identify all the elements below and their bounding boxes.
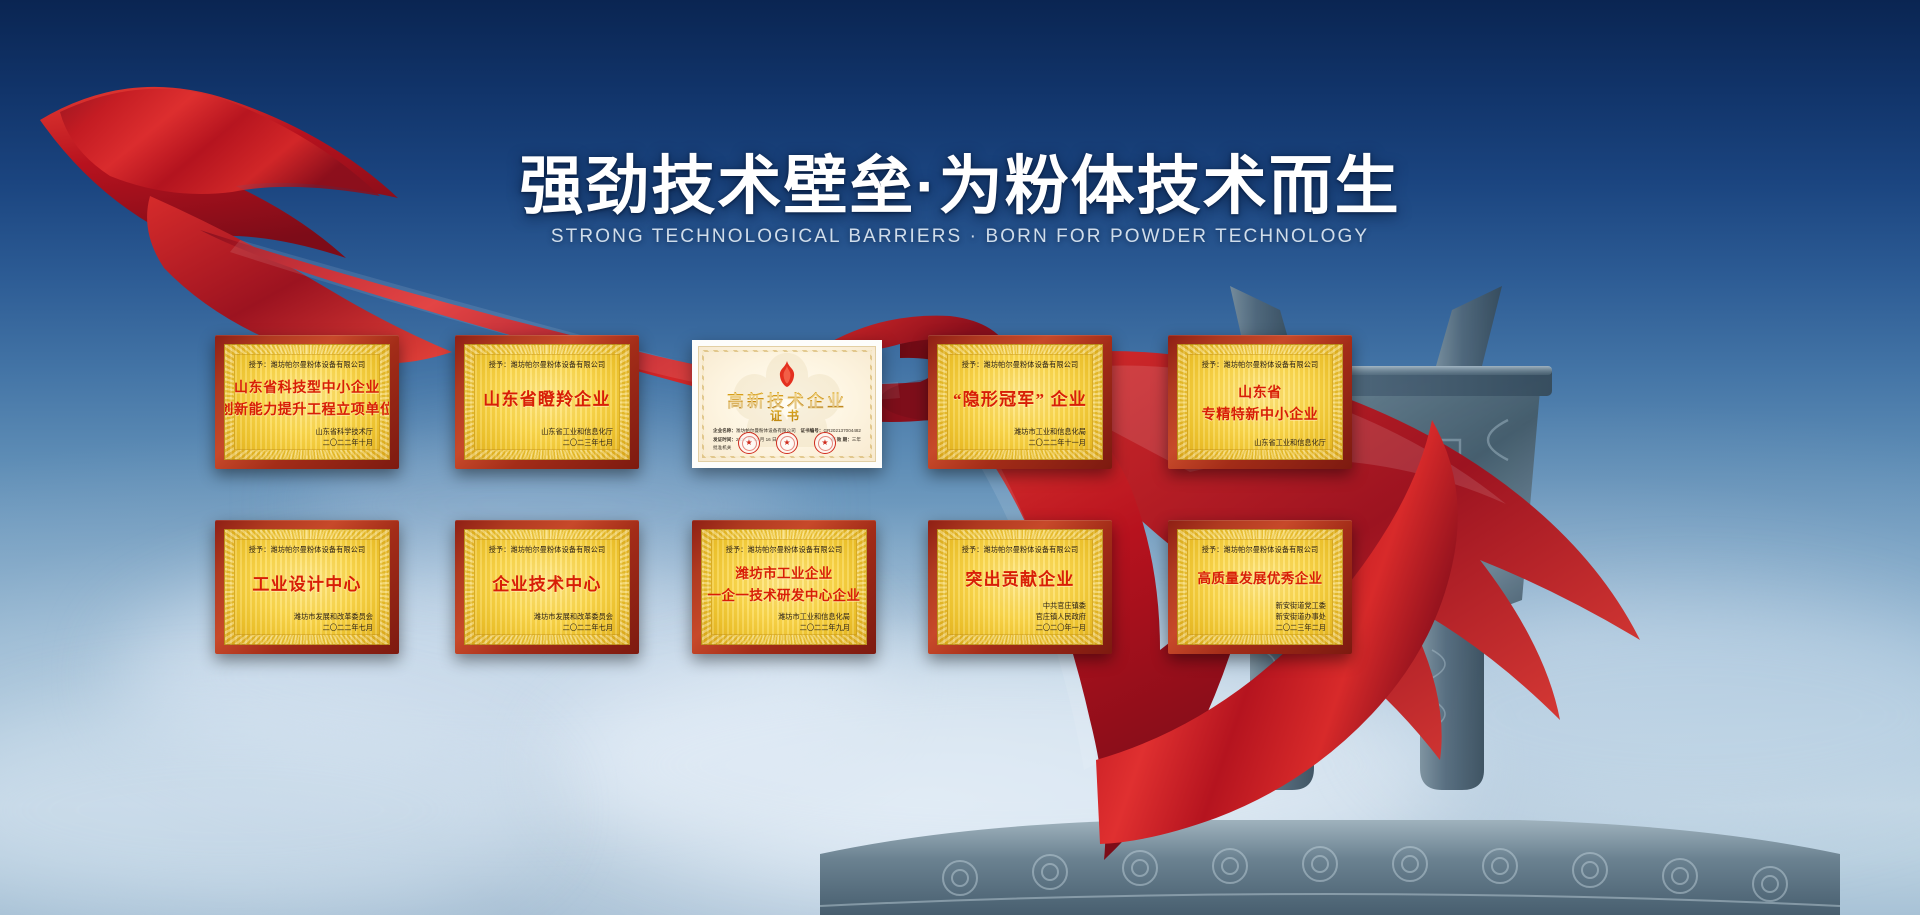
plaque-issue-date: 二〇二二年七月 xyxy=(225,622,373,633)
certificate-card[interactable]: 授予：潍坊帕尔曼粉体设备有限公司 山东省科技型中小企业 创新能力提升工程立项单位… xyxy=(215,335,399,469)
plaque-title: 高质量发展优秀企业 xyxy=(1178,555,1342,600)
plaque-title-line: 企业技术中心 xyxy=(492,570,601,595)
plaque-issuer: 山东省工业和信息化厅 二〇二三年七月 xyxy=(465,426,629,448)
certificate-card[interactable]: 授予：潍坊帕尔曼粉体设备有限公司 潍坊市工业企业 一企一技术研发中心企业 潍坊市… xyxy=(692,520,876,654)
plaque-grant-line: 授予：潍坊帕尔曼粉体设备有限公司 xyxy=(705,544,862,555)
plaque-title: “隐形冠军” 企业 xyxy=(938,370,1102,426)
plaque-issuer-name: 潍坊市工业和信息化局 xyxy=(938,426,1086,437)
plaque-grant-line: 授予：潍坊帕尔曼粉体设备有限公司 xyxy=(468,544,625,555)
plaque-issue-date: 二〇二二年十一月 xyxy=(938,437,1086,448)
plaque-issue-date: 二〇二三年二月 xyxy=(1178,622,1326,633)
certificate-card[interactable]: 授予：潍坊帕尔曼粉体设备有限公司 高质量发展优秀企业 新安街道党工委 新安街道办… xyxy=(1168,520,1352,654)
plaque-issuer: 潍坊市发展和改革委员会 二〇二二年七月 xyxy=(225,611,389,633)
plaque-issuer: 潍坊市发展和改革委员会 二〇二二年七月 xyxy=(465,611,629,633)
plaque-issuer: 中共官庄镇委 官庄镇人民政府 二〇二〇年一月 xyxy=(938,600,1102,633)
plaque-title-line: “隐形冠军” 企业 xyxy=(953,385,1087,410)
plaque-title-line: 突出贡献企业 xyxy=(965,565,1074,590)
plaque-title-line: 创新能力提升工程立项单位 xyxy=(224,399,390,419)
page-title: 强劲技术壁垒·为粉体技术而生 xyxy=(0,135,1920,227)
certificate-card[interactable]: 授予：潍坊帕尔曼粉体设备有限公司 工业设计中心 潍坊市发展和改革委员会 二〇二二… xyxy=(215,520,399,654)
plaque-grant-line: 授予：潍坊帕尔曼粉体设备有限公司 xyxy=(1181,359,1338,370)
plaque-issue-date: 二〇二二年九月 xyxy=(702,622,850,633)
plaque-title-line: 潍坊市工业企业 xyxy=(735,562,832,582)
plaque-grant-line: 授予：潍坊帕尔曼粉体设备有限公司 xyxy=(941,359,1098,370)
plaque-grant-line: 授予：潍坊帕尔曼粉体设备有限公司 xyxy=(1181,544,1338,555)
plaque-issuer-name: 潍坊市发展和改革委员会 xyxy=(465,611,613,622)
plaque-issuer: 山东省科学技术厅 二〇二二年十月 xyxy=(225,426,389,448)
plaque-title-line: 山东省瞪羚企业 xyxy=(483,385,610,410)
plaque-title: 山东省瞪羚企业 xyxy=(465,370,629,426)
plaque-face: 授予：潍坊帕尔曼粉体设备有限公司 企业技术中心 潍坊市发展和改革委员会 二〇二二… xyxy=(464,529,630,645)
certificate-card[interactable]: 授予：潍坊帕尔曼粉体设备有限公司 山东省瞪羚企业 山东省工业和信息化厅 二〇二三… xyxy=(455,335,639,469)
flame-logo-icon xyxy=(776,361,798,387)
plaque-face: 授予：潍坊帕尔曼粉体设备有限公司 工业设计中心 潍坊市发展和改革委员会 二〇二二… xyxy=(224,529,390,645)
plaque-title: 山东省科技型中小企业 创新能力提升工程立项单位 xyxy=(225,370,389,426)
plaque-issuer-name: 潍坊市工业和信息化局 xyxy=(702,611,850,622)
certificate-row-1: 授予：潍坊帕尔曼粉体设备有限公司 山东省科技型中小企业 创新能力提升工程立项单位… xyxy=(215,335,1615,495)
plaque-grant-line: 授予：潍坊帕尔曼粉体设备有限公司 xyxy=(228,359,385,370)
certificate-subtitle: 证书 xyxy=(699,407,875,424)
plaque-grant-line: 授予：潍坊帕尔曼粉体设备有限公司 xyxy=(228,544,385,555)
certificate-card[interactable]: 高新技术企业 证书 企业名称：潍坊帕尔曼粉体设备有限公司 证书编号：GR2021… xyxy=(692,340,882,468)
plaque-issuer: 潍坊市工业和信息化局 二〇二二年九月 xyxy=(702,611,866,633)
certificate-card[interactable]: 授予：潍坊帕尔曼粉体设备有限公司 企业技术中心 潍坊市发展和改革委员会 二〇二二… xyxy=(455,520,639,654)
plaque-face: 授予：潍坊帕尔曼粉体设备有限公司 山东省瞪羚企业 山东省工业和信息化厅 二〇二三… xyxy=(464,344,630,460)
plaque-title: 企业技术中心 xyxy=(465,555,629,611)
plaque-title: 突出贡献企业 xyxy=(938,555,1102,600)
statue-plinth xyxy=(820,820,1840,915)
certificate-card[interactable]: 授予：潍坊帕尔曼粉体设备有限公司 山东省 专精特新中小企业 山东省工业和信息化厅 xyxy=(1168,335,1352,469)
certificate-card[interactable]: 授予：潍坊帕尔曼粉体设备有限公司 突出贡献企业 中共官庄镇委 官庄镇人民政府 二… xyxy=(928,520,1112,654)
plaque-issuer-name: 山东省工业和信息化厅 xyxy=(1178,437,1326,448)
plaque-issuer: 潍坊市工业和信息化局 二〇二二年十一月 xyxy=(938,426,1102,448)
certificate-row-2: 授予：潍坊帕尔曼粉体设备有限公司 工业设计中心 潍坊市发展和改革委员会 二〇二二… xyxy=(215,520,1615,680)
plaque-issuer-name: 山东省工业和信息化厅 xyxy=(465,426,613,437)
plaque-title-line: 专精特新中小企业 xyxy=(1202,404,1319,424)
plaque-issue-date: 二〇二三年七月 xyxy=(465,437,613,448)
page-subtitle: STRONG TECHNOLOGICAL BARRIERS · BORN FOR… xyxy=(0,226,1920,248)
plaque-issuer: 山东省工业和信息化厅 xyxy=(1178,437,1342,448)
plaque-issuer: 新安街道党工委 新安街道办事处 二〇二三年二月 xyxy=(1178,600,1342,633)
certificate-seals xyxy=(699,432,875,454)
plaque-title-line: 工业设计中心 xyxy=(252,570,361,595)
official-seal-icon xyxy=(738,432,760,454)
plaque-title-line: 一企一技术研发中心企业 xyxy=(708,584,861,604)
plaque-face: 授予：潍坊帕尔曼粉体设备有限公司 山东省科技型中小企业 创新能力提升工程立项单位… xyxy=(224,344,390,460)
cloud-blob xyxy=(0,700,540,915)
plaque-title: 山东省 专精特新中小企业 xyxy=(1178,370,1342,437)
plaque-issue-date: 二〇二〇年一月 xyxy=(938,622,1086,633)
plaque-issuer-name: 新安街道党工委 新安街道办事处 xyxy=(1178,600,1326,622)
plaque-title: 工业设计中心 xyxy=(225,555,389,611)
plaque-issuer-name: 山东省科学技术厅 xyxy=(225,426,373,437)
plaque-face: 授予：潍坊帕尔曼粉体设备有限公司 “隐形冠军” 企业 潍坊市工业和信息化局 二〇… xyxy=(937,344,1103,460)
plaque-issuer-name: 中共官庄镇委 官庄镇人民政府 xyxy=(938,600,1086,622)
plaque-grant-line: 授予：潍坊帕尔曼粉体设备有限公司 xyxy=(468,359,625,370)
plaque-grant-line: 授予：潍坊帕尔曼粉体设备有限公司 xyxy=(941,544,1098,555)
plaque-issuer-name: 潍坊市发展和改革委员会 xyxy=(225,611,373,622)
plaque-title: 潍坊市工业企业 一企一技术研发中心企业 xyxy=(702,555,866,611)
plaque-title-line: 高质量发展优秀企业 xyxy=(1197,567,1322,587)
plaque-issue-date: 二〇二二年十月 xyxy=(225,437,373,448)
plaque-title-line: 山东省科技型中小企业 xyxy=(234,377,380,397)
plaque-title-line: 山东省 xyxy=(1238,382,1282,402)
plaque-issue-date: 二〇二二年七月 xyxy=(465,622,613,633)
certificate-card[interactable]: 授予：潍坊帕尔曼粉体设备有限公司 “隐形冠军” 企业 潍坊市工业和信息化局 二〇… xyxy=(928,335,1112,469)
plaque-face: 授予：潍坊帕尔曼粉体设备有限公司 突出贡献企业 中共官庄镇委 官庄镇人民政府 二… xyxy=(937,529,1103,645)
plaque-face: 授予：潍坊帕尔曼粉体设备有限公司 高质量发展优秀企业 新安街道党工委 新安街道办… xyxy=(1177,529,1343,645)
official-seal-icon xyxy=(776,432,798,454)
hero-banner: 强劲技术壁垒·为粉体技术而生 STRONG TECHNOLOGICAL BARR… xyxy=(0,0,1920,915)
certificate-grid: 授予：潍坊帕尔曼粉体设备有限公司 山东省科技型中小企业 创新能力提升工程立项单位… xyxy=(215,335,1615,680)
certificate-face: 高新技术企业 证书 企业名称：潍坊帕尔曼粉体设备有限公司 证书编号：GR2021… xyxy=(698,346,876,462)
official-seal-icon xyxy=(814,432,836,454)
plaque-face: 授予：潍坊帕尔曼粉体设备有限公司 山东省 专精特新中小企业 山东省工业和信息化厅 xyxy=(1177,344,1343,460)
plaque-face: 授予：潍坊帕尔曼粉体设备有限公司 潍坊市工业企业 一企一技术研发中心企业 潍坊市… xyxy=(701,529,867,645)
